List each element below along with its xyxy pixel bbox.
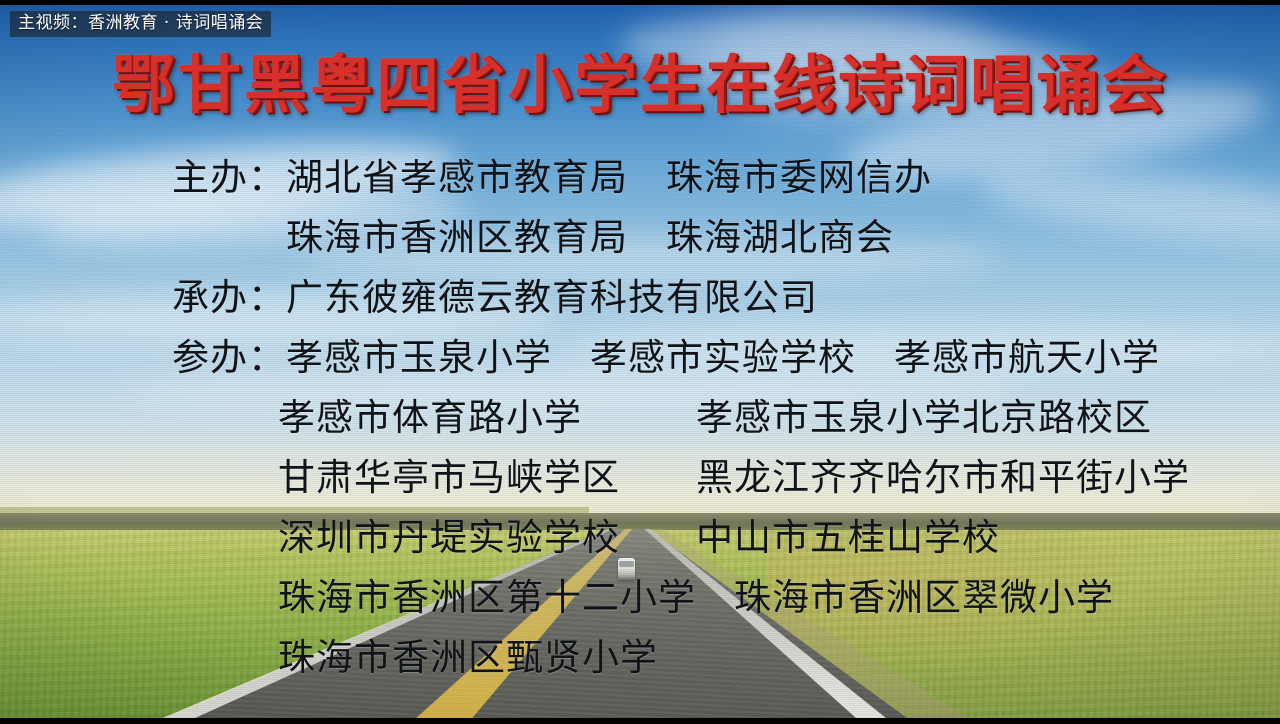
credit-line: 珠海市香洲区第十二小学 珠海市香洲区翠微小学 xyxy=(0,568,1280,628)
source-label: 主视频：香洲教育 · 诗词唱诵会 xyxy=(10,11,271,37)
page-title: 鄂甘黑粤四省小学生在线诗词唱诵会 xyxy=(0,50,1280,120)
credit-line: 珠海市香洲区教育局 珠海湖北商会 xyxy=(0,208,1280,268)
credit-line: 孝感市体育路小学 孝感市玉泉小学北京路校区 xyxy=(0,388,1280,448)
credit-line: 承办：广东彼雍德云教育科技有限公司 xyxy=(0,268,1280,328)
credit-line: 深圳市丹堤实验学校 中山市五桂山学校 xyxy=(0,508,1280,568)
credit-line: 珠海市香洲区甄贤小学 xyxy=(0,628,1280,688)
credit-line: 参办：孝感市玉泉小学 孝感市实验学校 孝感市航天小学 xyxy=(0,328,1280,388)
credits-block: 主办：湖北省孝感市教育局 珠海市委网信办 珠海市香洲区教育局 珠海湖北商会 承办… xyxy=(0,148,1280,688)
credit-line: 主办：湖北省孝感市教育局 珠海市委网信办 xyxy=(0,148,1280,208)
text-overlay: 主视频：香洲教育 · 诗词唱诵会 鄂甘黑粤四省小学生在线诗词唱诵会 主办：湖北省… xyxy=(0,0,1280,724)
credit-line: 甘肃华亭市马峡学区 黑龙江齐齐哈尔市和平街小学 xyxy=(0,448,1280,508)
video-frame: 主视频：香洲教育 · 诗词唱诵会 鄂甘黑粤四省小学生在线诗词唱诵会 主办：湖北省… xyxy=(0,0,1280,724)
